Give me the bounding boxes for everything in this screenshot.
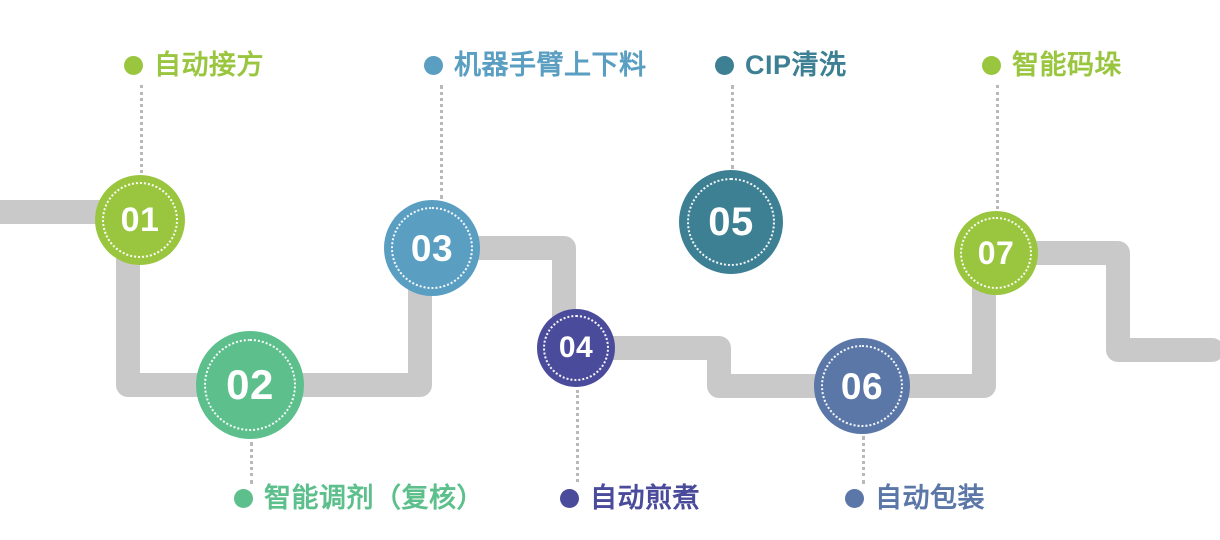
label-bullet-icon [982,56,1001,75]
step-node-06[interactable]: 06 [814,338,910,434]
leader-line-05 [731,85,734,169]
label-bullet-icon [715,56,734,75]
step-number: 06 [841,368,883,405]
step-label-06[interactable]: 自动包装 [845,485,985,512]
label-bullet-icon [234,489,253,508]
leader-line-04 [576,390,579,482]
step-label-text: 机器手臂上下料 [454,52,647,79]
step-label-text: CIP清洗 [745,52,847,79]
leader-line-06 [862,436,865,484]
step-label-01[interactable]: 自动接方 [124,52,264,79]
step-label-02[interactable]: 智能调剂（复核） [234,485,484,512]
label-bullet-icon [560,489,579,508]
label-bullet-icon [424,56,443,75]
leader-line-07 [996,85,999,209]
step-label-04[interactable]: 自动煎煮 [560,485,700,512]
step-number: 05 [708,202,754,242]
step-label-03[interactable]: 机器手臂上下料 [424,52,647,79]
label-bullet-icon [845,489,864,508]
step-number: 01 [121,203,160,237]
step-label-text: 自动接方 [154,52,264,79]
step-label-text: 自动包装 [875,485,985,512]
step-number: 04 [559,333,593,363]
step-node-07[interactable]: 07 [954,211,1038,295]
leader-line-03 [440,85,443,199]
leader-line-02 [250,442,253,484]
step-node-02[interactable]: 02 [196,331,304,439]
step-node-01[interactable]: 01 [95,175,185,265]
step-number: 02 [226,364,274,406]
step-label-05[interactable]: CIP清洗 [715,52,847,79]
step-label-07[interactable]: 智能码垛 [982,52,1122,79]
step-number: 07 [978,237,1015,269]
step-label-text: 智能调剂（复核） [264,485,484,512]
label-bullet-icon [124,56,143,75]
step-label-text: 自动煎煮 [590,485,700,512]
step-node-03[interactable]: 03 [384,200,480,296]
flow-path [0,0,1220,540]
step-number: 03 [411,230,453,267]
step-node-05[interactable]: 05 [679,170,783,274]
step-label-text: 智能码垛 [1012,52,1122,79]
process-flow-diagram: 01 02 03 04 05 06 07 自动接方 智能调剂（复核） 机器手臂上… [0,0,1220,540]
step-node-04[interactable]: 04 [537,309,615,387]
leader-line-01 [140,85,143,173]
